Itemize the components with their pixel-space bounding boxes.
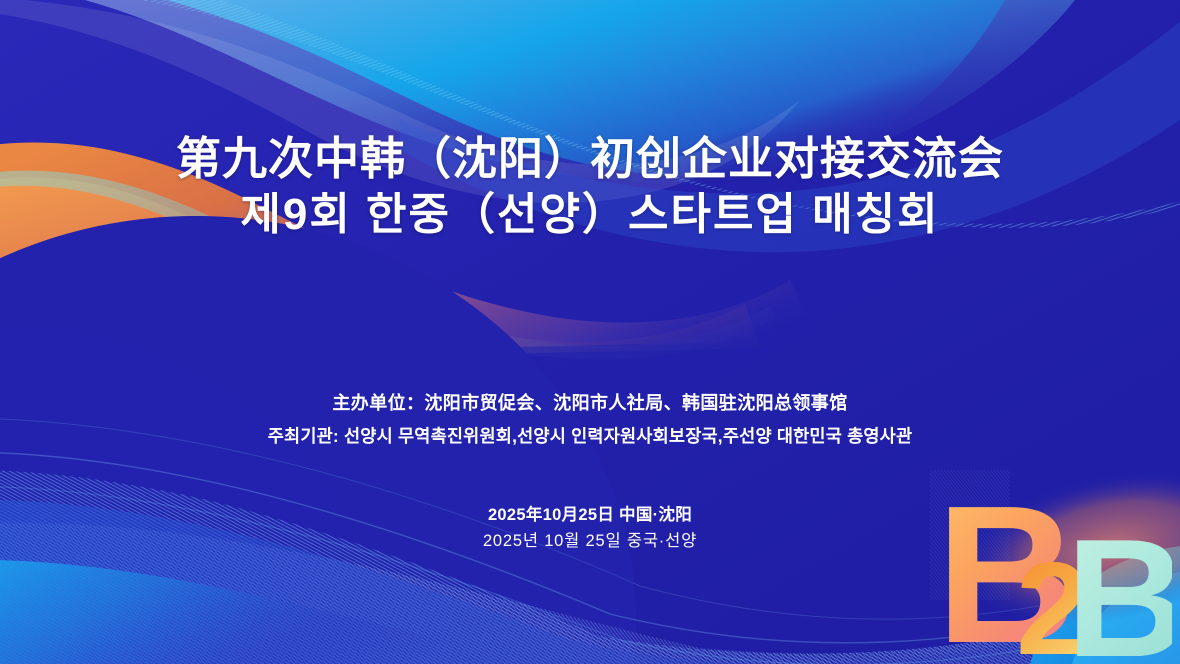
logo-letter-b3: B xyxy=(1066,504,1172,664)
organizer-block: 主办单位：沈阳市贸促会、沈阳市人社局、韩国驻沈阳总领事馆 주최기관: 선양시 무… xyxy=(0,390,1180,449)
organizers-chinese: 主办单位：沈阳市贸促会、沈阳市人社局、韩国驻沈阳总领事馆 xyxy=(0,390,1180,417)
title-block: 第九次中韩（沈阳）初创企业对接交流会 제9회 한중（선양）스타트업 매칭회 xyxy=(0,132,1180,243)
event-banner: 第九次中韩（沈阳）初创企业对接交流会 제9회 한중（선양）스타트업 매칭회 主办… xyxy=(0,0,1180,664)
organizers-korean: 주최기관: 선양시 무역촉진위원회,선양시 인력자원사회보장국,주선양 대한민국… xyxy=(0,423,1180,449)
b2b-logo: B 2 B xyxy=(934,474,1172,664)
title-korean: 제9회 한중（선양）스타트업 매칭회 xyxy=(0,187,1180,243)
title-chinese: 第九次中韩（沈阳）初创企业对接交流会 xyxy=(0,132,1180,187)
